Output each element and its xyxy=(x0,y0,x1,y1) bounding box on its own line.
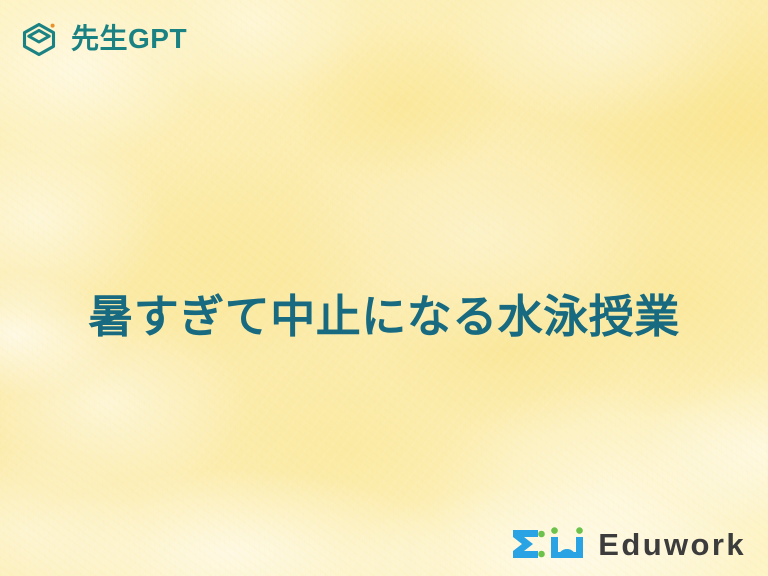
graduation-cap-hexagon-icon xyxy=(18,18,60,60)
slide-canvas: 先生GPT 暑すぎて中止になる水泳授業 Eduwork xyxy=(0,0,768,576)
brand-name-label: 先生GPT xyxy=(71,25,187,53)
brand-lockup[interactable]: 先生GPT xyxy=(18,18,187,60)
eduwork-ew-monogram-icon xyxy=(511,526,585,562)
slide-background-grain xyxy=(0,0,768,576)
slide-title: 暑すぎて中止になる水泳授業 xyxy=(0,292,768,342)
partner-logo-lockup[interactable]: Eduwork xyxy=(511,526,746,562)
partner-name-label: Eduwork xyxy=(598,529,746,560)
